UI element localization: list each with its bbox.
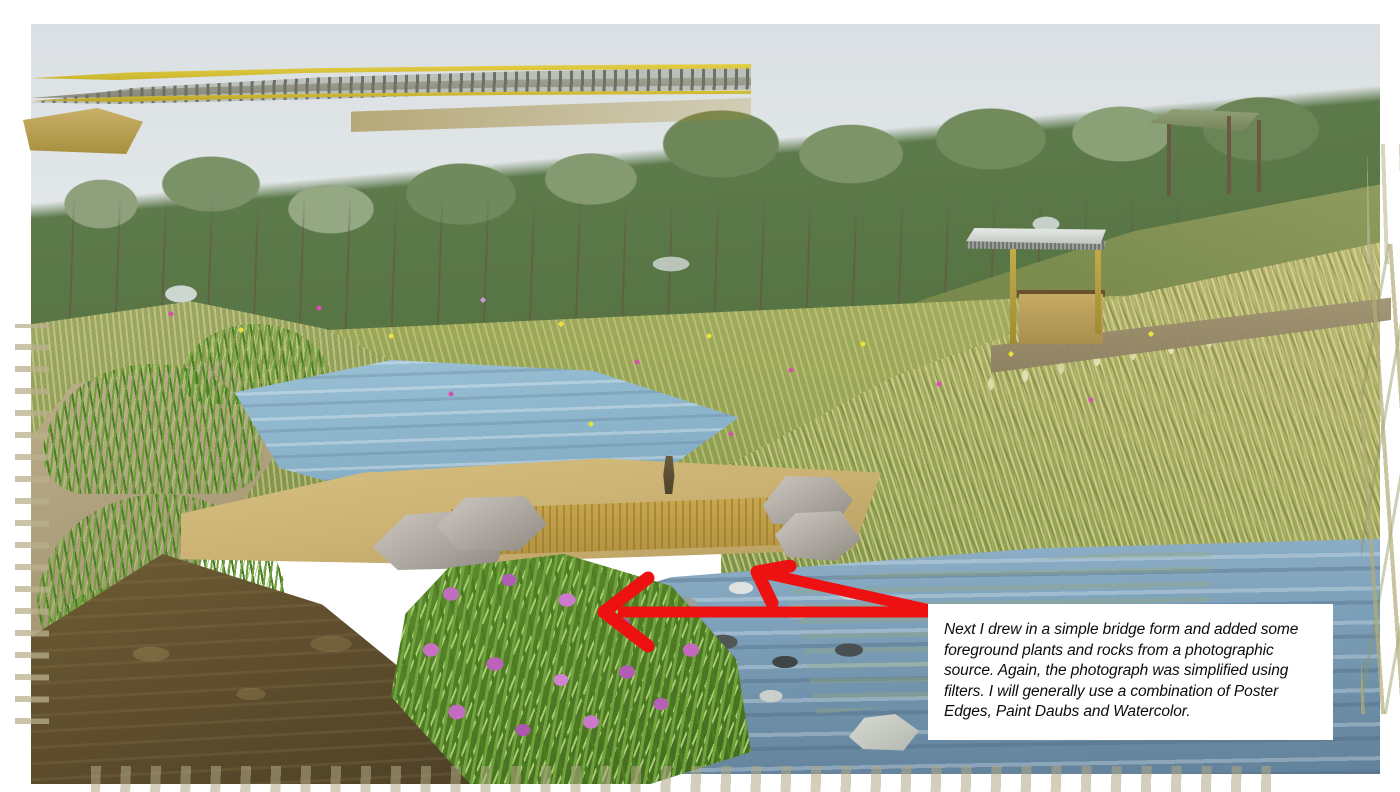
screenshot-canvas: Next I drew in a simple bridge form and …: [0, 0, 1400, 791]
sketch-edge-top-right: [1367, 144, 1400, 264]
pavilion-wall: [1019, 294, 1103, 344]
sketch-edge-bottom: [91, 766, 1271, 792]
annotation-caption-text: Next I drew in a simple bridge form and …: [944, 620, 1324, 723]
grass-clump: [43, 364, 263, 494]
distant-pavilion-post: [1257, 120, 1261, 192]
sketch-edge-right: [1361, 244, 1400, 714]
distant-pavilion-post: [1167, 124, 1171, 196]
sketch-edge-left: [15, 324, 49, 724]
pavilion-post: [1095, 238, 1101, 334]
annotation-caption-box: Next I drew in a simple bridge form and …: [928, 604, 1333, 740]
distant-pavilion-post: [1227, 116, 1231, 194]
pavilion-post: [1010, 238, 1016, 344]
